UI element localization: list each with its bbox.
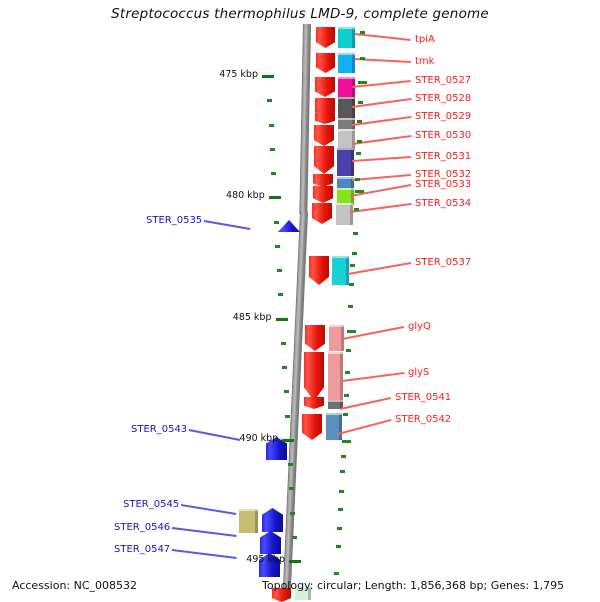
feature-tick [355, 178, 360, 181]
gene-arrow-ster_0533[interactable] [313, 186, 333, 203]
gene-arrow-ster_0546[interactable] [260, 531, 281, 554]
gene-arrow-glyq[interactable] [305, 325, 325, 351]
feature-tick [340, 470, 345, 473]
gene-arrow-ster_0541[interactable] [304, 397, 324, 409]
ruler-minor-tick [267, 99, 272, 102]
label-leader-line [204, 220, 250, 230]
gene-label-ster_0535[interactable]: STER_0535 [146, 215, 202, 226]
feature-tick [337, 527, 342, 530]
ruler-major-tick [269, 196, 281, 199]
feature-tick [354, 208, 359, 211]
ruler-minor-tick [281, 342, 286, 345]
label-leader-line [338, 419, 391, 435]
gene-label-ster_0545[interactable]: STER_0545 [123, 499, 179, 510]
accession-text: Accession: NC_008532 [12, 579, 137, 592]
gene-arrow-tmk[interactable] [316, 53, 335, 73]
genome-summary-text: Topology: circular; Length: 1,856,368 bp… [262, 579, 564, 592]
feature-tick [336, 545, 341, 548]
genome-map-view: Streptococcus thermophilus LMD-9, comple… [0, 0, 600, 600]
feature-tick [358, 101, 363, 104]
ruler-minor-tick [271, 172, 276, 175]
ruler-minor-tick [269, 124, 274, 127]
gene-arrow-ster_0531[interactable] [314, 146, 334, 174]
gene-arrow-ster_0537[interactable] [309, 256, 329, 285]
ruler-minor-tick [289, 487, 294, 490]
ruler-minor-tick [270, 148, 275, 151]
label-leader-line [355, 33, 411, 41]
feature-tick [360, 57, 365, 60]
ruler-minor-tick [288, 463, 293, 466]
feature-tick [355, 190, 364, 193]
feature-tick [345, 371, 350, 374]
feature-tick [357, 140, 362, 143]
gene-label-ster_0529[interactable]: STER_0529 [415, 111, 471, 122]
feature-tick [357, 120, 362, 123]
gene-label-ster_0543[interactable]: STER_0543 [131, 424, 187, 435]
gene-label-ster_0546[interactable]: STER_0546 [114, 522, 170, 533]
feature-tick [350, 264, 355, 267]
ruler-label: 495 kbp [231, 554, 285, 565]
label-leader-line [172, 549, 236, 559]
label-leader-line [340, 397, 391, 410]
genome-backbone-axis-upper [299, 24, 311, 214]
gene-domain-block[interactable] [337, 148, 354, 176]
ruler-major-tick [276, 318, 288, 321]
gene-arrow-ster_0545[interactable] [262, 508, 283, 532]
label-leader-line [181, 504, 236, 515]
ruler-minor-tick [277, 269, 282, 272]
gene-label-ster_0531[interactable]: STER_0531 [415, 151, 471, 162]
feature-tick [338, 508, 343, 511]
ruler-label: 475 kbp [204, 69, 258, 80]
ruler-major-tick [289, 560, 301, 563]
feature-tick [348, 305, 353, 308]
gene-label-ster_0528[interactable]: STER_0528 [415, 93, 471, 104]
ruler-minor-tick [292, 536, 297, 539]
gene-arrow-ster_0530[interactable] [314, 125, 334, 146]
feature-tick [360, 31, 365, 34]
gene-label-ster_0542[interactable]: STER_0542 [395, 414, 451, 425]
ruler-minor-tick [290, 512, 295, 515]
gene-domain-block[interactable] [328, 352, 343, 402]
ruler-label: 485 kbp [218, 312, 272, 323]
gene-domain-block[interactable] [326, 413, 342, 440]
feature-tick [342, 440, 351, 443]
label-leader-line [172, 527, 236, 537]
label-leader-line [352, 156, 411, 162]
feature-tick [353, 232, 358, 235]
ruler-label: 490 kbp [224, 433, 278, 444]
feature-tick [346, 349, 351, 352]
gene-arrow-ster_0529[interactable] [315, 113, 335, 124]
gene-domain-block[interactable] [239, 509, 258, 533]
gene-label-ster_0527[interactable]: STER_0527 [415, 75, 471, 86]
label-leader-line [352, 174, 411, 181]
gene-arrow-ster_0534[interactable] [312, 203, 332, 224]
ruler-label: 480 kbp [211, 190, 265, 201]
feature-tick [339, 490, 344, 493]
gene-arrow-tpia[interactable] [316, 27, 335, 48]
gene-arrow-glys[interactable] [304, 352, 324, 401]
feature-tick [344, 394, 349, 397]
label-leader-line [348, 262, 411, 275]
gene-label-tpia[interactable]: tpiA [415, 34, 435, 45]
gene-label-ster_0541[interactable]: STER_0541 [395, 392, 451, 403]
gene-arrow-ster_0535[interactable] [278, 220, 300, 232]
gene-domain-block[interactable] [336, 203, 353, 225]
ruler-minor-tick [278, 293, 283, 296]
gene-arrow-ster_0527[interactable] [315, 77, 335, 97]
feature-tick [341, 455, 346, 458]
ruler-major-tick [262, 75, 274, 78]
feature-tick [349, 283, 354, 286]
ruler-minor-tick [284, 390, 289, 393]
gene-label-ster_0533[interactable]: STER_0533 [415, 179, 471, 190]
gene-domain-block[interactable] [338, 53, 355, 73]
gene-label-tmk[interactable]: tmk [415, 56, 434, 67]
feature-tick [352, 252, 357, 255]
ruler-minor-tick [275, 245, 280, 248]
ruler-minor-tick [282, 366, 287, 369]
gene-domain-block[interactable] [338, 27, 355, 48]
gene-label-glys[interactable]: glyS [408, 367, 429, 378]
label-leader-line [350, 203, 411, 213]
gene-arrow-ster_0542[interactable] [302, 414, 322, 440]
ruler-minor-tick [285, 415, 290, 418]
feature-tick [347, 330, 356, 333]
feature-tick [356, 152, 361, 155]
gene-domain-block[interactable] [332, 256, 349, 285]
label-leader-line [342, 372, 404, 382]
gene-label-ster_0530[interactable]: STER_0530 [415, 130, 471, 141]
feature-tick [343, 413, 348, 416]
gene-label-glyq[interactable]: glyQ [408, 321, 431, 332]
gene-label-ster_0547[interactable]: STER_0547 [114, 544, 170, 555]
gene-label-ster_0537[interactable]: STER_0537 [415, 257, 471, 268]
feature-tick [334, 572, 339, 575]
feature-tick [358, 81, 367, 84]
ruler-major-tick [282, 439, 294, 442]
page-title: Streptococcus thermophilus LMD-9, comple… [0, 6, 600, 22]
gene-label-ster_0534[interactable]: STER_0534 [415, 198, 471, 209]
ruler-minor-tick [274, 221, 279, 224]
